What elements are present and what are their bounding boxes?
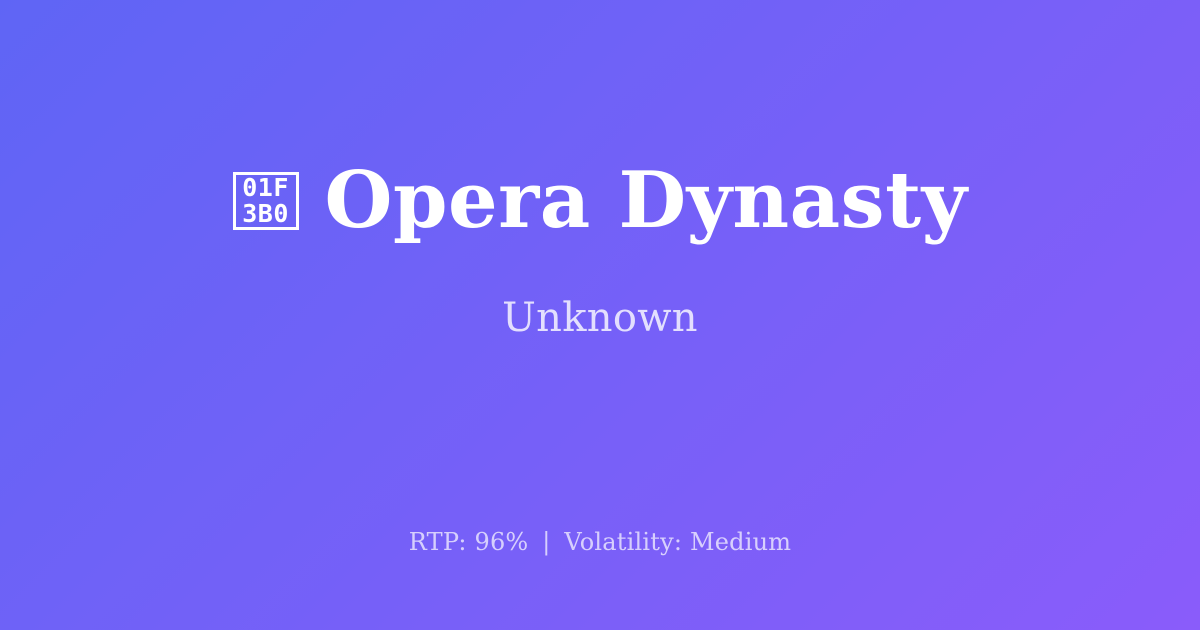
- volatility-label: Volatility:: [564, 528, 682, 556]
- game-stats-line: RTP: 96% | Volatility: Medium: [0, 528, 1200, 557]
- slot-machine-icon: 01F 3B0: [233, 172, 299, 230]
- hero-block: 01F 3B0 Opera Dynasty Unknown: [0, 0, 1200, 500]
- icon-codepoint-top: 01F: [242, 175, 289, 201]
- game-provider-subtitle: Unknown: [502, 298, 698, 338]
- rtp-label: RTP:: [409, 528, 467, 556]
- game-title-text: Opera Dynasty: [325, 162, 968, 240]
- page-title: 01F 3B0 Opera Dynasty: [233, 162, 968, 240]
- volatility-value: Medium: [690, 528, 791, 556]
- rtp-value: 96%: [474, 528, 528, 556]
- stats-separator: |: [536, 528, 556, 556]
- game-preview-card: 01F 3B0 Opera Dynasty Unknown RTP: 96% |…: [0, 0, 1200, 630]
- icon-codepoint-bottom: 3B0: [242, 201, 289, 227]
